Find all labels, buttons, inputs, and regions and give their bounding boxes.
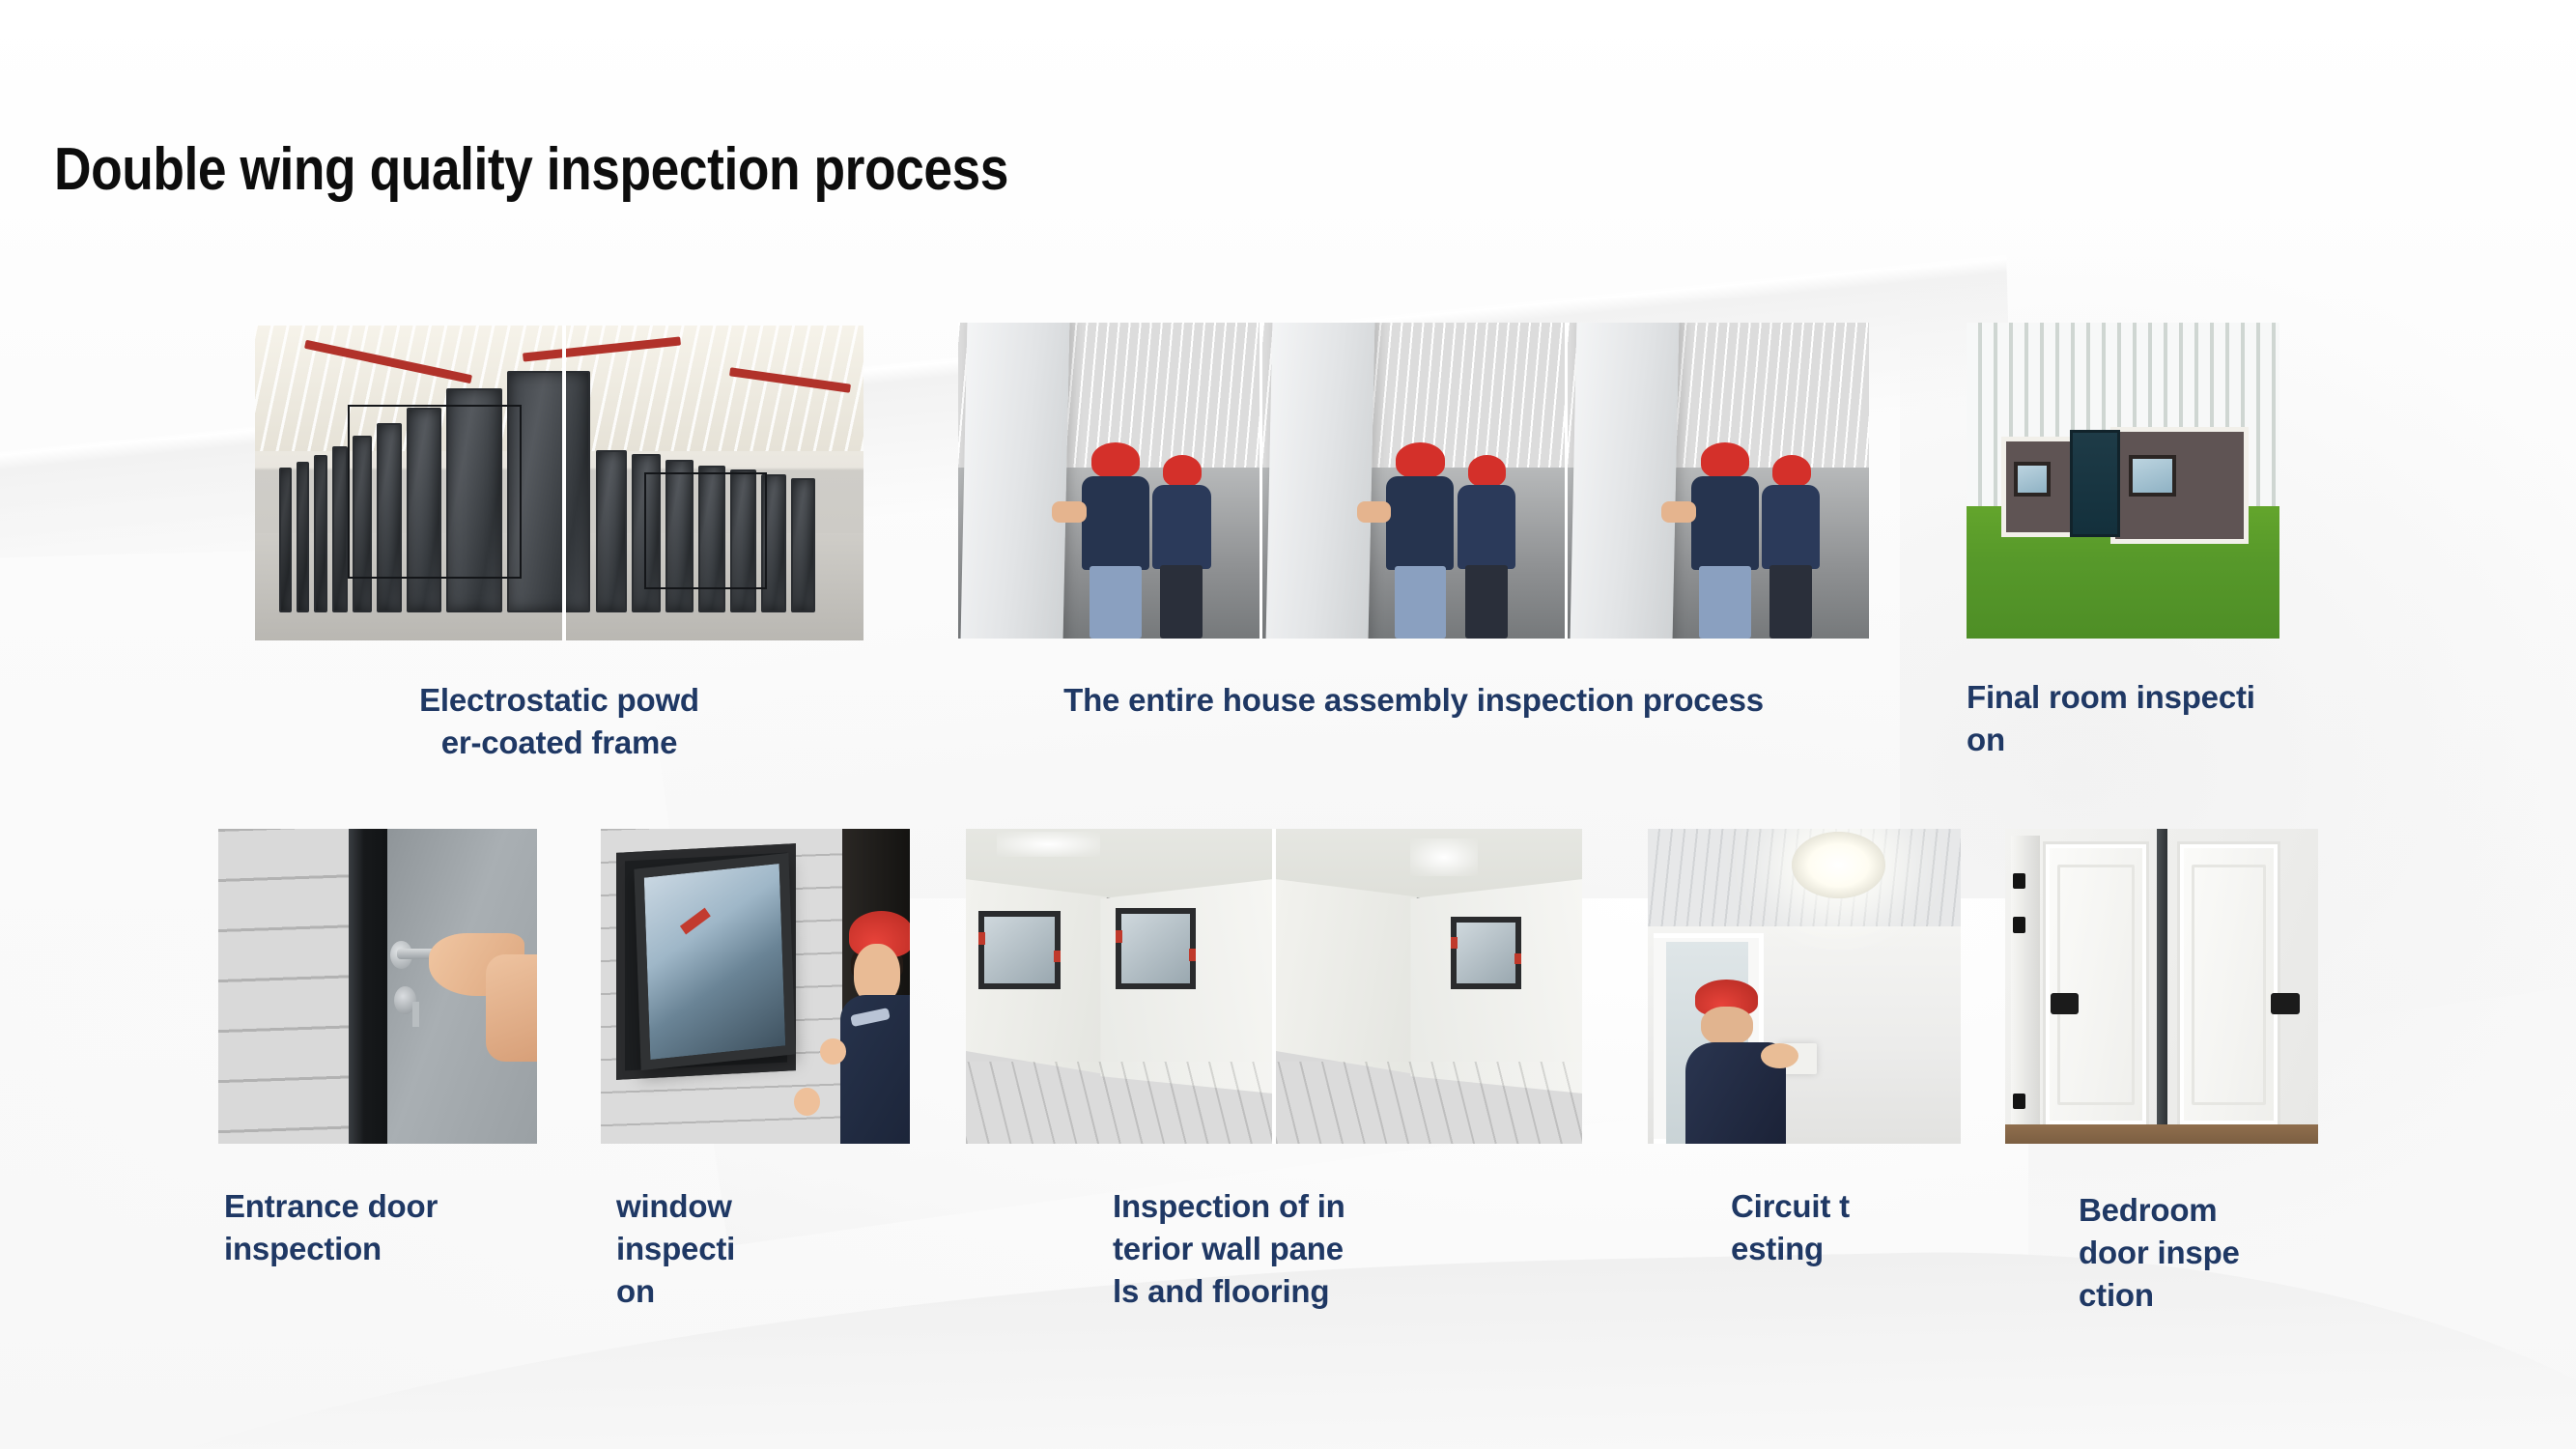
caption-line: on [616, 1270, 809, 1313]
container-window [2129, 455, 2176, 497]
caption-bedroom-door-inspection: Bedroom door inspe ction [2079, 1189, 2291, 1317]
caption-line: Bedroom [2079, 1189, 2291, 1232]
ceiling-light-icon [1410, 838, 1478, 876]
interior-pane-right [1276, 829, 1582, 1144]
caption-final-room-inspection: Final room inspecti on [1967, 676, 2285, 761]
caption-entrance-door-inspection: Entrance door inspection [224, 1185, 514, 1270]
taped-window [978, 911, 1062, 990]
wall-panel-left [1276, 879, 1417, 1074]
worker-legs [1160, 565, 1203, 639]
worker-front [1688, 442, 1767, 639]
photo-final-room-inspection [1967, 323, 2279, 639]
photo-electrostatic-powder-coated-frame [255, 326, 863, 640]
worker-front [1079, 442, 1157, 639]
worker-torso [1458, 485, 1515, 569]
worker-arm [1661, 501, 1696, 523]
caption-circuit-testing: Circuit t esting [1731, 1185, 1924, 1270]
caption-line: Circuit t [1731, 1185, 1924, 1228]
door-lever-handle [2271, 993, 2299, 1015]
window-inspector [786, 911, 910, 1144]
caption-line: er-coated frame [255, 722, 863, 764]
worker-arm [1052, 501, 1087, 523]
frame-stack-right [596, 450, 815, 612]
caption-line: The entire house assembly inspection pro… [958, 679, 1869, 722]
caption-interior-wall-panels-and-flooring: Inspection of in terior wall pane ls and… [1113, 1185, 1364, 1313]
caption-line: Electrostatic powd [255, 679, 863, 722]
worker-torso [1386, 476, 1454, 570]
caption-line: esting [1731, 1228, 1924, 1270]
wall-joint-strip [2157, 829, 2167, 1124]
red-hard-hat-icon [1701, 442, 1749, 477]
door-opening-gap [349, 829, 387, 1144]
slide-canvas: Double wing quality inspection process [0, 0, 2576, 1449]
caption-line: window [616, 1185, 809, 1228]
worker-behind [1151, 455, 1218, 639]
assembly-pane [1262, 323, 1567, 639]
door-lever-handle [2051, 993, 2079, 1015]
taped-window [1116, 908, 1195, 990]
worker-torso [1152, 485, 1210, 569]
door-leaf-closed [218, 829, 349, 1144]
photo-entire-house-assembly-inspection [958, 323, 1869, 639]
photo-interior-wall-panels-and-flooring [966, 829, 1582, 1144]
photo-split-divider [562, 326, 566, 640]
worker-legs [1465, 565, 1508, 639]
worker-torso [1691, 476, 1759, 570]
door-key-icon [412, 1002, 419, 1027]
photo-bedroom-door-inspection [2005, 829, 2318, 1144]
red-hard-hat-icon [1468, 455, 1507, 486]
caption-line: Final room inspecti [1967, 676, 2285, 719]
white-wall-panel [961, 323, 1070, 639]
caption-line: inspecti [616, 1228, 809, 1270]
caption-line: ction [2079, 1274, 2291, 1317]
photo-window-inspection [601, 829, 910, 1144]
door-hinge-icon [2013, 873, 2025, 889]
caption-line: inspection [224, 1228, 514, 1270]
photo-circuit-testing [1648, 829, 1961, 1144]
photo-entrance-door-inspection [218, 829, 537, 1144]
page-title: Double wing quality inspection process [54, 135, 1008, 204]
caption-entire-house-assembly-inspection: The entire house assembly inspection pro… [958, 679, 1869, 722]
assembly-pane [1568, 323, 1869, 639]
inspector-head [1701, 1007, 1753, 1046]
inspector-forearm [486, 954, 537, 1062]
wood-look-flooring [966, 1062, 1272, 1144]
red-hard-hat-icon [1772, 455, 1811, 486]
white-wall-panel [1570, 323, 1679, 639]
door-hinge-icon [2013, 1094, 2025, 1109]
caption-line: terior wall pane [1113, 1228, 1364, 1270]
worker-behind [1456, 455, 1522, 639]
caption-line: ls and flooring [1113, 1270, 1364, 1313]
wood-floor [2005, 1124, 2318, 1144]
inspector-hand-lower [794, 1088, 820, 1116]
assembly-pane [958, 323, 1262, 639]
ceiling-light-icon [997, 832, 1101, 857]
door-hinge-icon [2013, 917, 2025, 932]
white-wall-panel [1265, 323, 1374, 639]
taped-window [1451, 917, 1521, 989]
worker-front [1383, 442, 1461, 639]
inspector-hand [1761, 1043, 1798, 1068]
bedroom-door-right [2180, 844, 2277, 1124]
red-hard-hat-icon [1396, 442, 1444, 477]
worker-torso [1762, 485, 1820, 569]
red-hard-hat-icon [1163, 455, 1202, 486]
container-window [2014, 462, 2052, 497]
frame-stack-left [279, 371, 590, 612]
caption-line: on [1967, 719, 2285, 761]
wood-look-flooring [1276, 1062, 1582, 1144]
worker-torso [1082, 476, 1149, 570]
caption-line: door inspe [2079, 1232, 2291, 1274]
caption-electrostatic-powder-coated-frame: Electrostatic powd er-coated frame [255, 679, 863, 764]
red-hard-hat-icon [1091, 442, 1140, 477]
worker-behind [1761, 455, 1827, 639]
inspector-hand-upper [820, 1038, 846, 1065]
worker-arm [1357, 501, 1392, 523]
worker-legs [1769, 565, 1812, 639]
container-glass-door [2070, 430, 2120, 537]
worker-legs [1395, 566, 1447, 639]
caption-window-inspection: window inspecti on [616, 1185, 809, 1313]
awning-window-sash [635, 853, 796, 1070]
worker-legs [1090, 566, 1142, 639]
ceiling-lamp-icon [1792, 832, 1885, 897]
reflected-crane-beam [681, 908, 712, 935]
interior-pane-left [966, 829, 1276, 1144]
caption-line: Entrance door [224, 1185, 514, 1228]
bedroom-door-left [2046, 844, 2146, 1124]
worker-legs [1699, 566, 1751, 639]
caption-line: Inspection of in [1113, 1185, 1364, 1228]
